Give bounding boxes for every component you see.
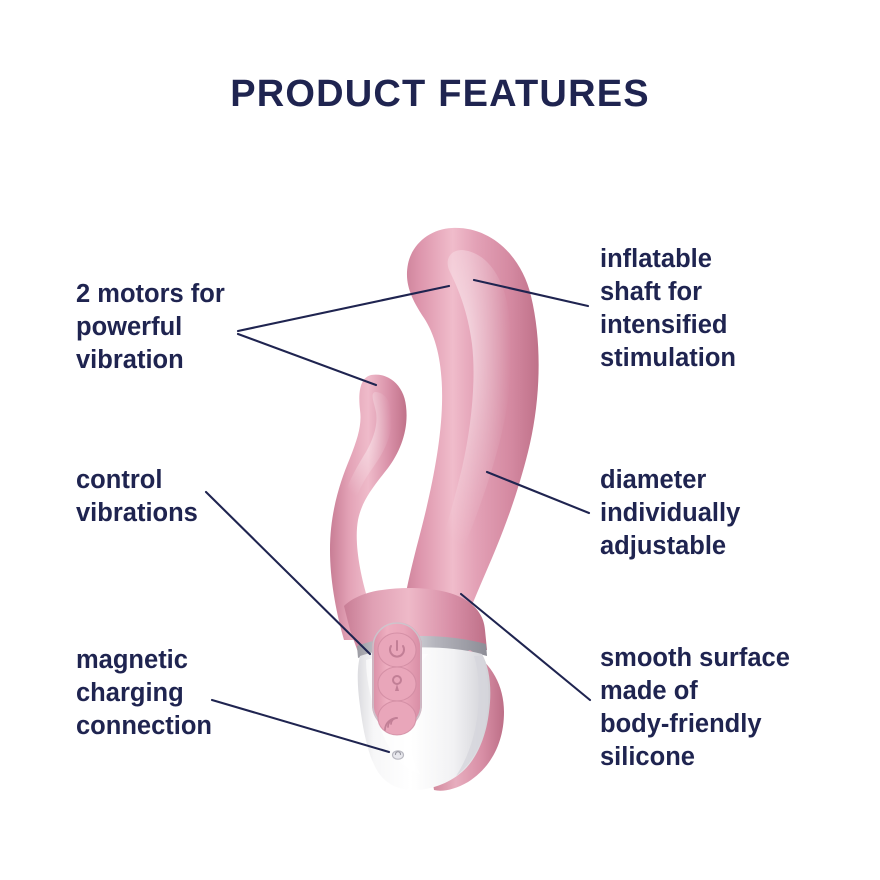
label-diameter-adjustable: diameter individually adjustable — [600, 464, 740, 563]
leader-smooth — [461, 594, 590, 700]
label-line: individually — [600, 499, 740, 527]
label-line: magnetic — [76, 646, 188, 674]
label-line: smooth surface — [600, 644, 790, 672]
leader-magnetic — [212, 700, 389, 752]
label-line: made of — [600, 677, 698, 705]
leader-diameter — [487, 472, 589, 513]
label-magnetic-charging: magnetic charging connection — [76, 644, 212, 743]
label-line: intensified — [600, 311, 728, 339]
label-line: 2 motors for — [76, 280, 225, 308]
label-2-motors: 2 motors for powerful vibration — [76, 278, 225, 377]
label-line: shaft for — [600, 278, 702, 306]
label-line: connection — [76, 712, 212, 740]
label-line: inflatable — [600, 245, 712, 273]
label-line: vibrations — [76, 499, 198, 527]
label-smooth-surface: smooth surface made of body-friendly sil… — [600, 642, 790, 775]
leader-inflatable — [474, 280, 588, 306]
label-line: silicone — [600, 743, 695, 771]
label-line: charging — [76, 679, 184, 707]
label-line: stimulation — [600, 344, 736, 372]
label-line: powerful — [76, 313, 182, 341]
label-line: diameter — [600, 466, 706, 494]
leader-motors-lower — [238, 334, 376, 385]
label-line: adjustable — [600, 532, 726, 560]
leader-motors-upper — [238, 286, 449, 331]
label-control-vibrations: control vibrations — [76, 464, 198, 530]
label-line: body-friendly — [600, 710, 762, 738]
label-line: control — [76, 466, 162, 494]
label-inflatable-shaft: inflatable shaft for intensified stimula… — [600, 243, 736, 376]
label-line: vibration — [76, 346, 184, 374]
leader-control — [206, 492, 370, 654]
infographic-page: PRODUCT FEATURES — [0, 0, 880, 880]
